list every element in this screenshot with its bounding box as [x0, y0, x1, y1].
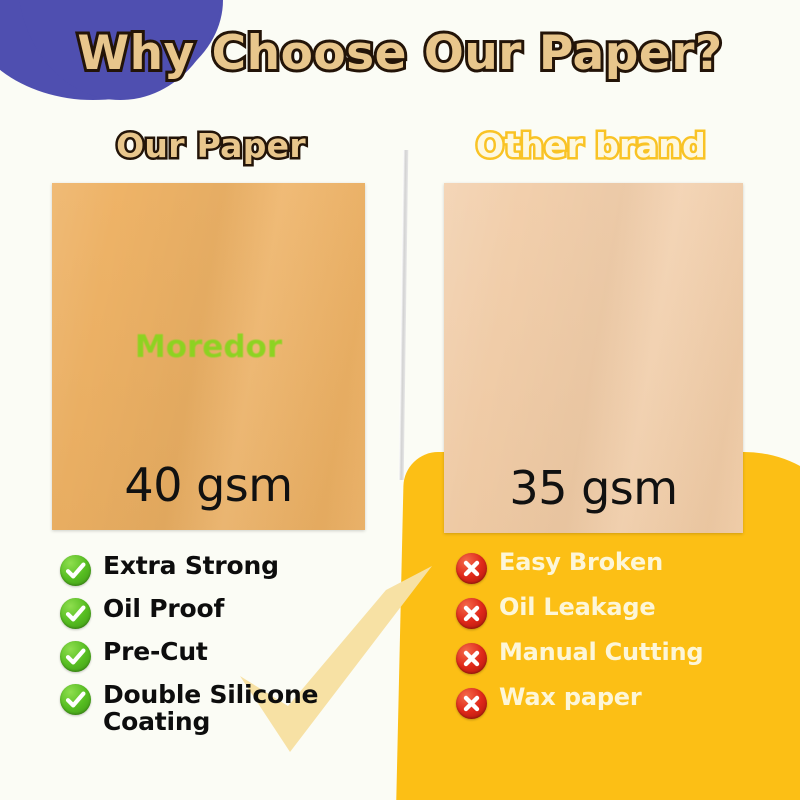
gsm-label-theirs: 35 gsm — [444, 461, 743, 515]
feature-label: Oil Leakage — [499, 595, 655, 621]
brand-watermark: Moredor — [52, 329, 365, 365]
paper-swatch-ours: Moredor 40 gsm — [52, 183, 365, 530]
feature-label: Wax paper — [499, 685, 642, 711]
feature-label: Oil Proof — [103, 595, 224, 622]
feature-label: Extra Strong — [103, 552, 279, 579]
cross-circle-icon — [456, 553, 487, 584]
cross-circle-icon — [456, 598, 487, 629]
feature-label: Pre-Cut — [103, 638, 208, 665]
paper-swatch-theirs: 35 gsm — [444, 183, 743, 533]
cross-circle-icon — [456, 643, 487, 674]
feature-label: Manual Cutting — [499, 640, 703, 666]
feature-item: Wax paper — [456, 685, 786, 719]
gsm-label-ours: 40 gsm — [52, 458, 365, 512]
check-circle-icon — [60, 598, 91, 629]
check-circle-icon — [60, 555, 91, 586]
feature-item: Manual Cutting — [456, 640, 786, 674]
check-circle-icon — [60, 641, 91, 672]
feature-item: Oil Leakage — [456, 595, 786, 629]
page-title: Why Choose Our Paper? — [0, 26, 800, 81]
feature-item: Extra Strong — [60, 552, 390, 586]
feature-list-theirs: Easy Broken Oil Leakage Manual Cutting W… — [456, 550, 786, 730]
feature-item: Double Silicone Coating — [60, 681, 390, 735]
feature-list-ours: Extra Strong Oil Proof Pre-Cut Double Si… — [60, 552, 390, 744]
column-divider — [399, 150, 409, 480]
check-circle-icon — [60, 684, 91, 715]
feature-item: Easy Broken — [456, 550, 786, 584]
feature-item: Pre-Cut — [60, 638, 390, 672]
infographic-canvas: Why Choose Our Paper? Our Paper Other br… — [0, 0, 800, 800]
column-heading-theirs: Other brand — [432, 126, 750, 165]
cross-circle-icon — [456, 688, 487, 719]
feature-label: Double Silicone Coating — [103, 681, 390, 735]
feature-label: Easy Broken — [499, 550, 663, 576]
column-heading-ours: Our Paper — [52, 126, 370, 165]
feature-item: Oil Proof — [60, 595, 390, 629]
